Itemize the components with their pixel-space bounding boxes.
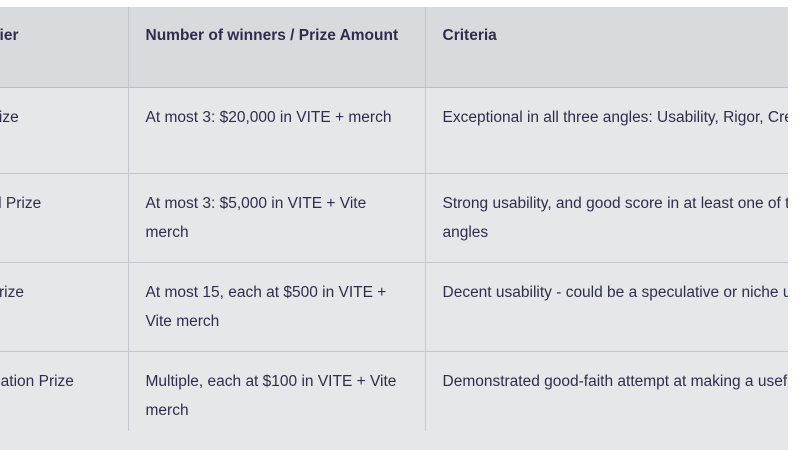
table-scroll-viewport[interactable]: Prize Tier Number of winners / Prize Amo…	[0, 7, 788, 431]
column-header-prize-tier: Prize Tier	[0, 7, 128, 88]
prize-tier-table: Prize Tier Number of winners / Prize Amo…	[0, 7, 788, 431]
cell-winners-amount: Multiple, each at $100 in VITE + Vite me…	[128, 352, 425, 432]
cell-criteria: Exceptional in all three angles: Usabili…	[425, 88, 788, 174]
table-header-row: Prize Tier Number of winners / Prize Amo…	[0, 7, 788, 88]
cell-winners-amount: At most 15, each at $500 in VITE + Vite …	[128, 263, 425, 352]
right-gutter	[788, 0, 800, 450]
cell-prize-tier: Participation Prize	[0, 352, 128, 432]
table-row: Third Prize At most 15, each at $500 in …	[0, 263, 788, 352]
table-body: First Prize At most 3: $20,000 in VITE +…	[0, 88, 788, 432]
cell-criteria: Decent usability - could be a speculativ…	[425, 263, 788, 352]
cell-prize-tier: First Prize	[0, 88, 128, 174]
column-header-winners-amount: Number of winners / Prize Amount	[128, 7, 425, 88]
page-canvas: Prize Tier Number of winners / Prize Amo…	[0, 0, 800, 450]
cell-winners-amount: At most 3: $5,000 in VITE + Vite merch	[128, 174, 425, 263]
column-header-criteria: Criteria	[425, 7, 788, 88]
table-row: First Prize At most 3: $20,000 in VITE +…	[0, 88, 788, 174]
table-row: Participation Prize Multiple, each at $1…	[0, 352, 788, 432]
table-header: Prize Tier Number of winners / Prize Amo…	[0, 7, 788, 88]
cell-prize-tier: Third Prize	[0, 263, 128, 352]
cell-prize-tier: Second Prize	[0, 174, 128, 263]
cell-criteria: Demonstrated good-faith attempt at makin…	[425, 352, 788, 432]
cell-winners-amount: At most 3: $20,000 in VITE + merch	[128, 88, 425, 174]
table-row: Second Prize At most 3: $5,000 in VITE +…	[0, 174, 788, 263]
top-gutter	[0, 0, 800, 7]
cell-criteria: Strong usability, and good score in at l…	[425, 174, 788, 263]
